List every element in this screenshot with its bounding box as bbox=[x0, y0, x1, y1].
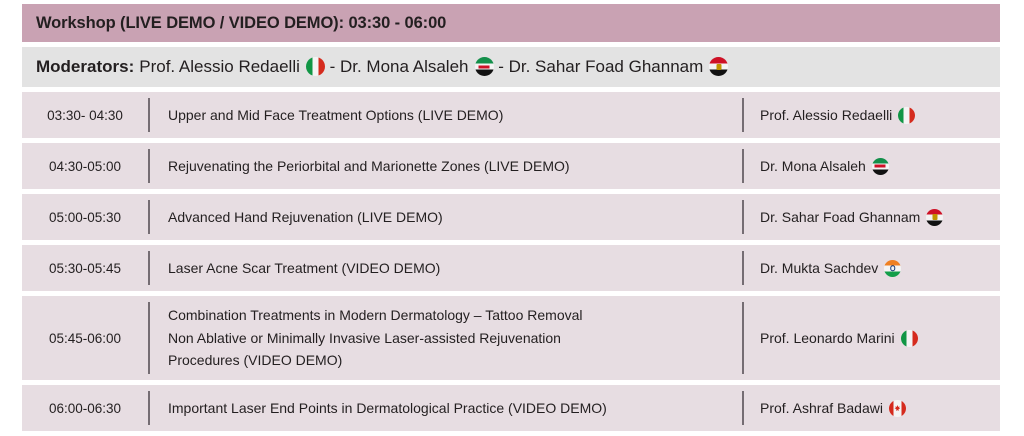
row-time: 05:00-05:30 bbox=[22, 194, 148, 240]
syria-flag-icon bbox=[475, 57, 494, 76]
moderators-label: Moderators: bbox=[36, 57, 134, 77]
row-topic: Combination Treatments in Modern Dermato… bbox=[150, 296, 742, 380]
moderator-name-3: Dr. Sahar Foad Ghannam bbox=[509, 57, 704, 76]
page-title: Workshop (LIVE DEMO / VIDEO DEMO): 03:30… bbox=[36, 14, 446, 33]
row-topic: Advanced Hand Rejuvenation (LIVE DEMO) bbox=[150, 194, 742, 240]
row-topic: Rejuvenating the Periorbital and Marione… bbox=[150, 143, 742, 189]
italy-flag-icon bbox=[901, 330, 918, 347]
row-speaker: Prof. Ashraf Badawi bbox=[744, 385, 1000, 431]
row-speaker-name: Prof. Leonardo Marini bbox=[760, 330, 895, 346]
moderator-name-1: Prof. Alessio Redaelli bbox=[139, 57, 300, 76]
row-speaker-name: Prof. Alessio Redaelli bbox=[760, 107, 892, 123]
moderator-separator-2: - bbox=[494, 57, 509, 76]
table-row: 05:00-05:30 Advanced Hand Rejuvenation (… bbox=[22, 194, 1000, 240]
egypt-flag-icon bbox=[926, 209, 943, 226]
canada-flag-icon bbox=[889, 400, 906, 417]
row-topic: Important Laser End Points in Dermatolog… bbox=[150, 385, 742, 431]
row-speaker: Prof. Leonardo Marini bbox=[744, 296, 1000, 380]
row-speaker: Prof. Alessio Redaelli bbox=[744, 92, 1000, 138]
italy-flag-icon bbox=[306, 57, 325, 76]
row-time: 06:00-06:30 bbox=[22, 385, 148, 431]
table-row: 04:30-05:00 Rejuvenating the Periorbital… bbox=[22, 143, 1000, 189]
session-title-band: Workshop (LIVE DEMO / VIDEO DEMO): 03:30… bbox=[22, 4, 1000, 42]
row-speaker: Dr. Sahar Foad Ghannam bbox=[744, 194, 1000, 240]
row-topic: Laser Acne Scar Treatment (VIDEO DEMO) bbox=[150, 245, 742, 291]
row-time: 04:30-05:00 bbox=[22, 143, 148, 189]
row-speaker-name: Prof. Ashraf Badawi bbox=[760, 400, 883, 416]
row-speaker: Dr. Mukta Sachdev bbox=[744, 245, 1000, 291]
moderators-list: Prof. Alessio Redaelli - Dr. Mona Alsale… bbox=[139, 57, 728, 77]
italy-flag-icon bbox=[898, 107, 915, 124]
moderators-band: Moderators: Prof. Alessio Redaelli - Dr.… bbox=[22, 47, 1000, 87]
syria-flag-icon bbox=[872, 158, 889, 175]
moderator-name-2: Dr. Mona Alsaleh bbox=[340, 57, 469, 76]
moderator-separator-1: - bbox=[325, 57, 340, 76]
schedule-rows: 03:30- 04:30 Upper and Mid Face Treatmen… bbox=[22, 92, 1000, 431]
row-speaker-name: Dr. Sahar Foad Ghannam bbox=[760, 209, 920, 225]
table-row: 03:30- 04:30 Upper and Mid Face Treatmen… bbox=[22, 92, 1000, 138]
table-row: 06:00-06:30 Important Laser End Points i… bbox=[22, 385, 1000, 431]
row-speaker-name: Dr. Mukta Sachdev bbox=[760, 260, 878, 276]
row-speaker: Dr. Mona Alsaleh bbox=[744, 143, 1000, 189]
row-topic: Upper and Mid Face Treatment Options (LI… bbox=[150, 92, 742, 138]
table-row: 05:30-05:45 Laser Acne Scar Treatment (V… bbox=[22, 245, 1000, 291]
row-time: 05:30-05:45 bbox=[22, 245, 148, 291]
workshop-schedule: Workshop (LIVE DEMO / VIDEO DEMO): 03:30… bbox=[22, 4, 1000, 436]
table-row: 05:45-06:00 Combination Treatments in Mo… bbox=[22, 296, 1000, 380]
row-time: 03:30- 04:30 bbox=[22, 92, 148, 138]
row-speaker-name: Dr. Mona Alsaleh bbox=[760, 158, 866, 174]
egypt-flag-icon bbox=[709, 57, 728, 76]
india-flag-icon bbox=[884, 260, 901, 277]
row-time: 05:45-06:00 bbox=[22, 296, 148, 380]
